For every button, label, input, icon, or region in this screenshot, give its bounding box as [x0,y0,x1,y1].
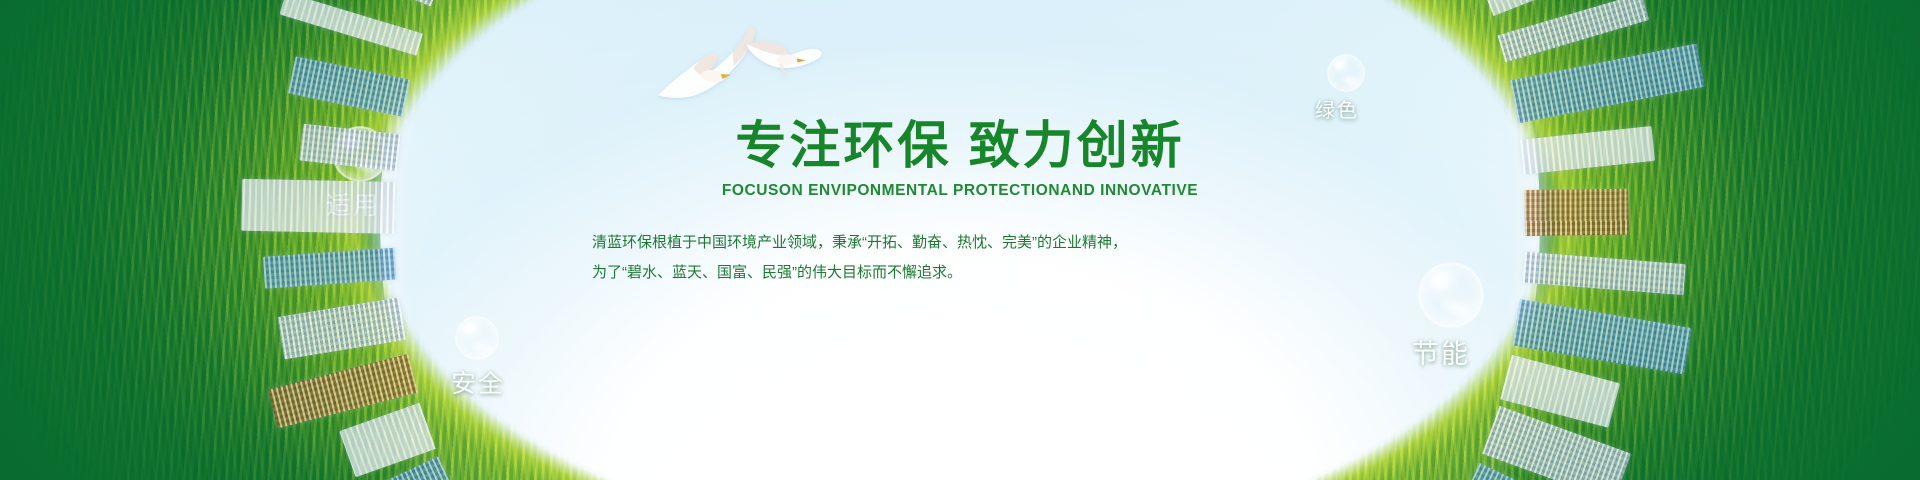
eco-hero-banner: 适用 安全 绿色 节能 专注环保 致力创新 FOCUSON ENVIPONMEN… [0,0,1920,480]
bubble-safety: 安全 [455,316,499,360]
page-title: 专注环保 致力创新 [580,118,1340,173]
page-subtitle: FOCUSON ENVIPONMENTAL PROTECTIONAND INNO… [580,182,1340,200]
bubble-energy-saving: 节能 [1418,262,1484,328]
bubble-applicable: 适用 [332,126,388,182]
intro-paragraph-line-1: 清蓝环保根植于中国环境产业领域，秉承“开拓、勤奋、热忱、完美”的企业精神， [592,228,1340,258]
intro-paragraph-line-2: 为了“碧水、蓝天、国富、民强”的伟大目标而不懈追求。 [592,258,1340,288]
bubble-label-energy-saving: 节能 [1412,332,1470,371]
bubble-sphere [1327,54,1365,92]
bubble-green: 绿色 [1327,54,1365,92]
bubble-sphere [332,126,388,182]
intro-paragraph: 清蓝环保根植于中国环境产业领域，秉承“开拓、勤奋、热忱、完美”的企业精神， 为了… [580,228,1340,288]
bubble-label-applicable: 适用 [326,186,380,222]
bubble-label-safety: 安全 [451,364,505,400]
seagull-right-icon [740,28,827,86]
bubble-sphere [1418,262,1484,328]
hero-copy: 专注环保 致力创新 FOCUSON ENVIPONMENTAL PROTECTI… [580,118,1340,288]
bubble-sphere [455,316,499,360]
